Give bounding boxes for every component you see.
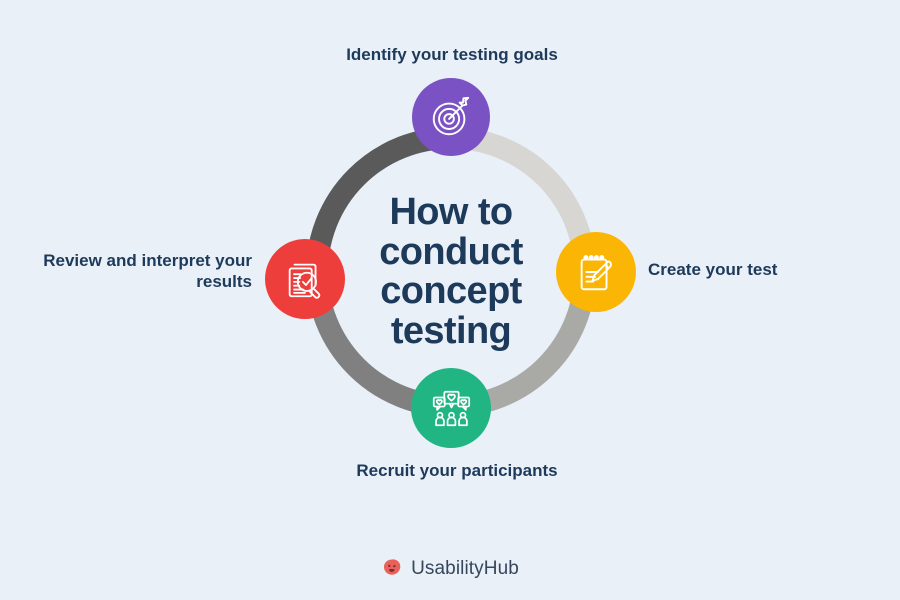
notepad-pencil-icon — [573, 249, 619, 295]
step-node-identify-goals[interactable] — [412, 78, 490, 156]
step-label-create-test: Create your test — [648, 259, 848, 280]
step-label-recruit-participants: Recruit your participants — [337, 460, 577, 481]
step-node-create-test[interactable] — [556, 232, 636, 312]
target-arrow-icon — [428, 94, 474, 140]
document-magnifier-check-icon — [282, 256, 328, 302]
step-label-review-results: Review and interpret your results — [36, 250, 252, 293]
brand-name: UsabilityHub — [411, 558, 519, 580]
page-title: How to conduct concept testing — [336, 193, 566, 351]
step-node-recruit-participants[interactable] — [411, 368, 491, 448]
usabilityhub-blob-face-icon — [381, 558, 403, 580]
step-node-review-results[interactable] — [265, 239, 345, 319]
step-label-identify-goals: Identify your testing goals — [332, 44, 572, 65]
infographic-canvas: How to conduct concept testing — [0, 0, 900, 600]
footer-brand[interactable]: UsabilityHub — [0, 558, 900, 580]
people-feedback-icon — [428, 385, 474, 431]
